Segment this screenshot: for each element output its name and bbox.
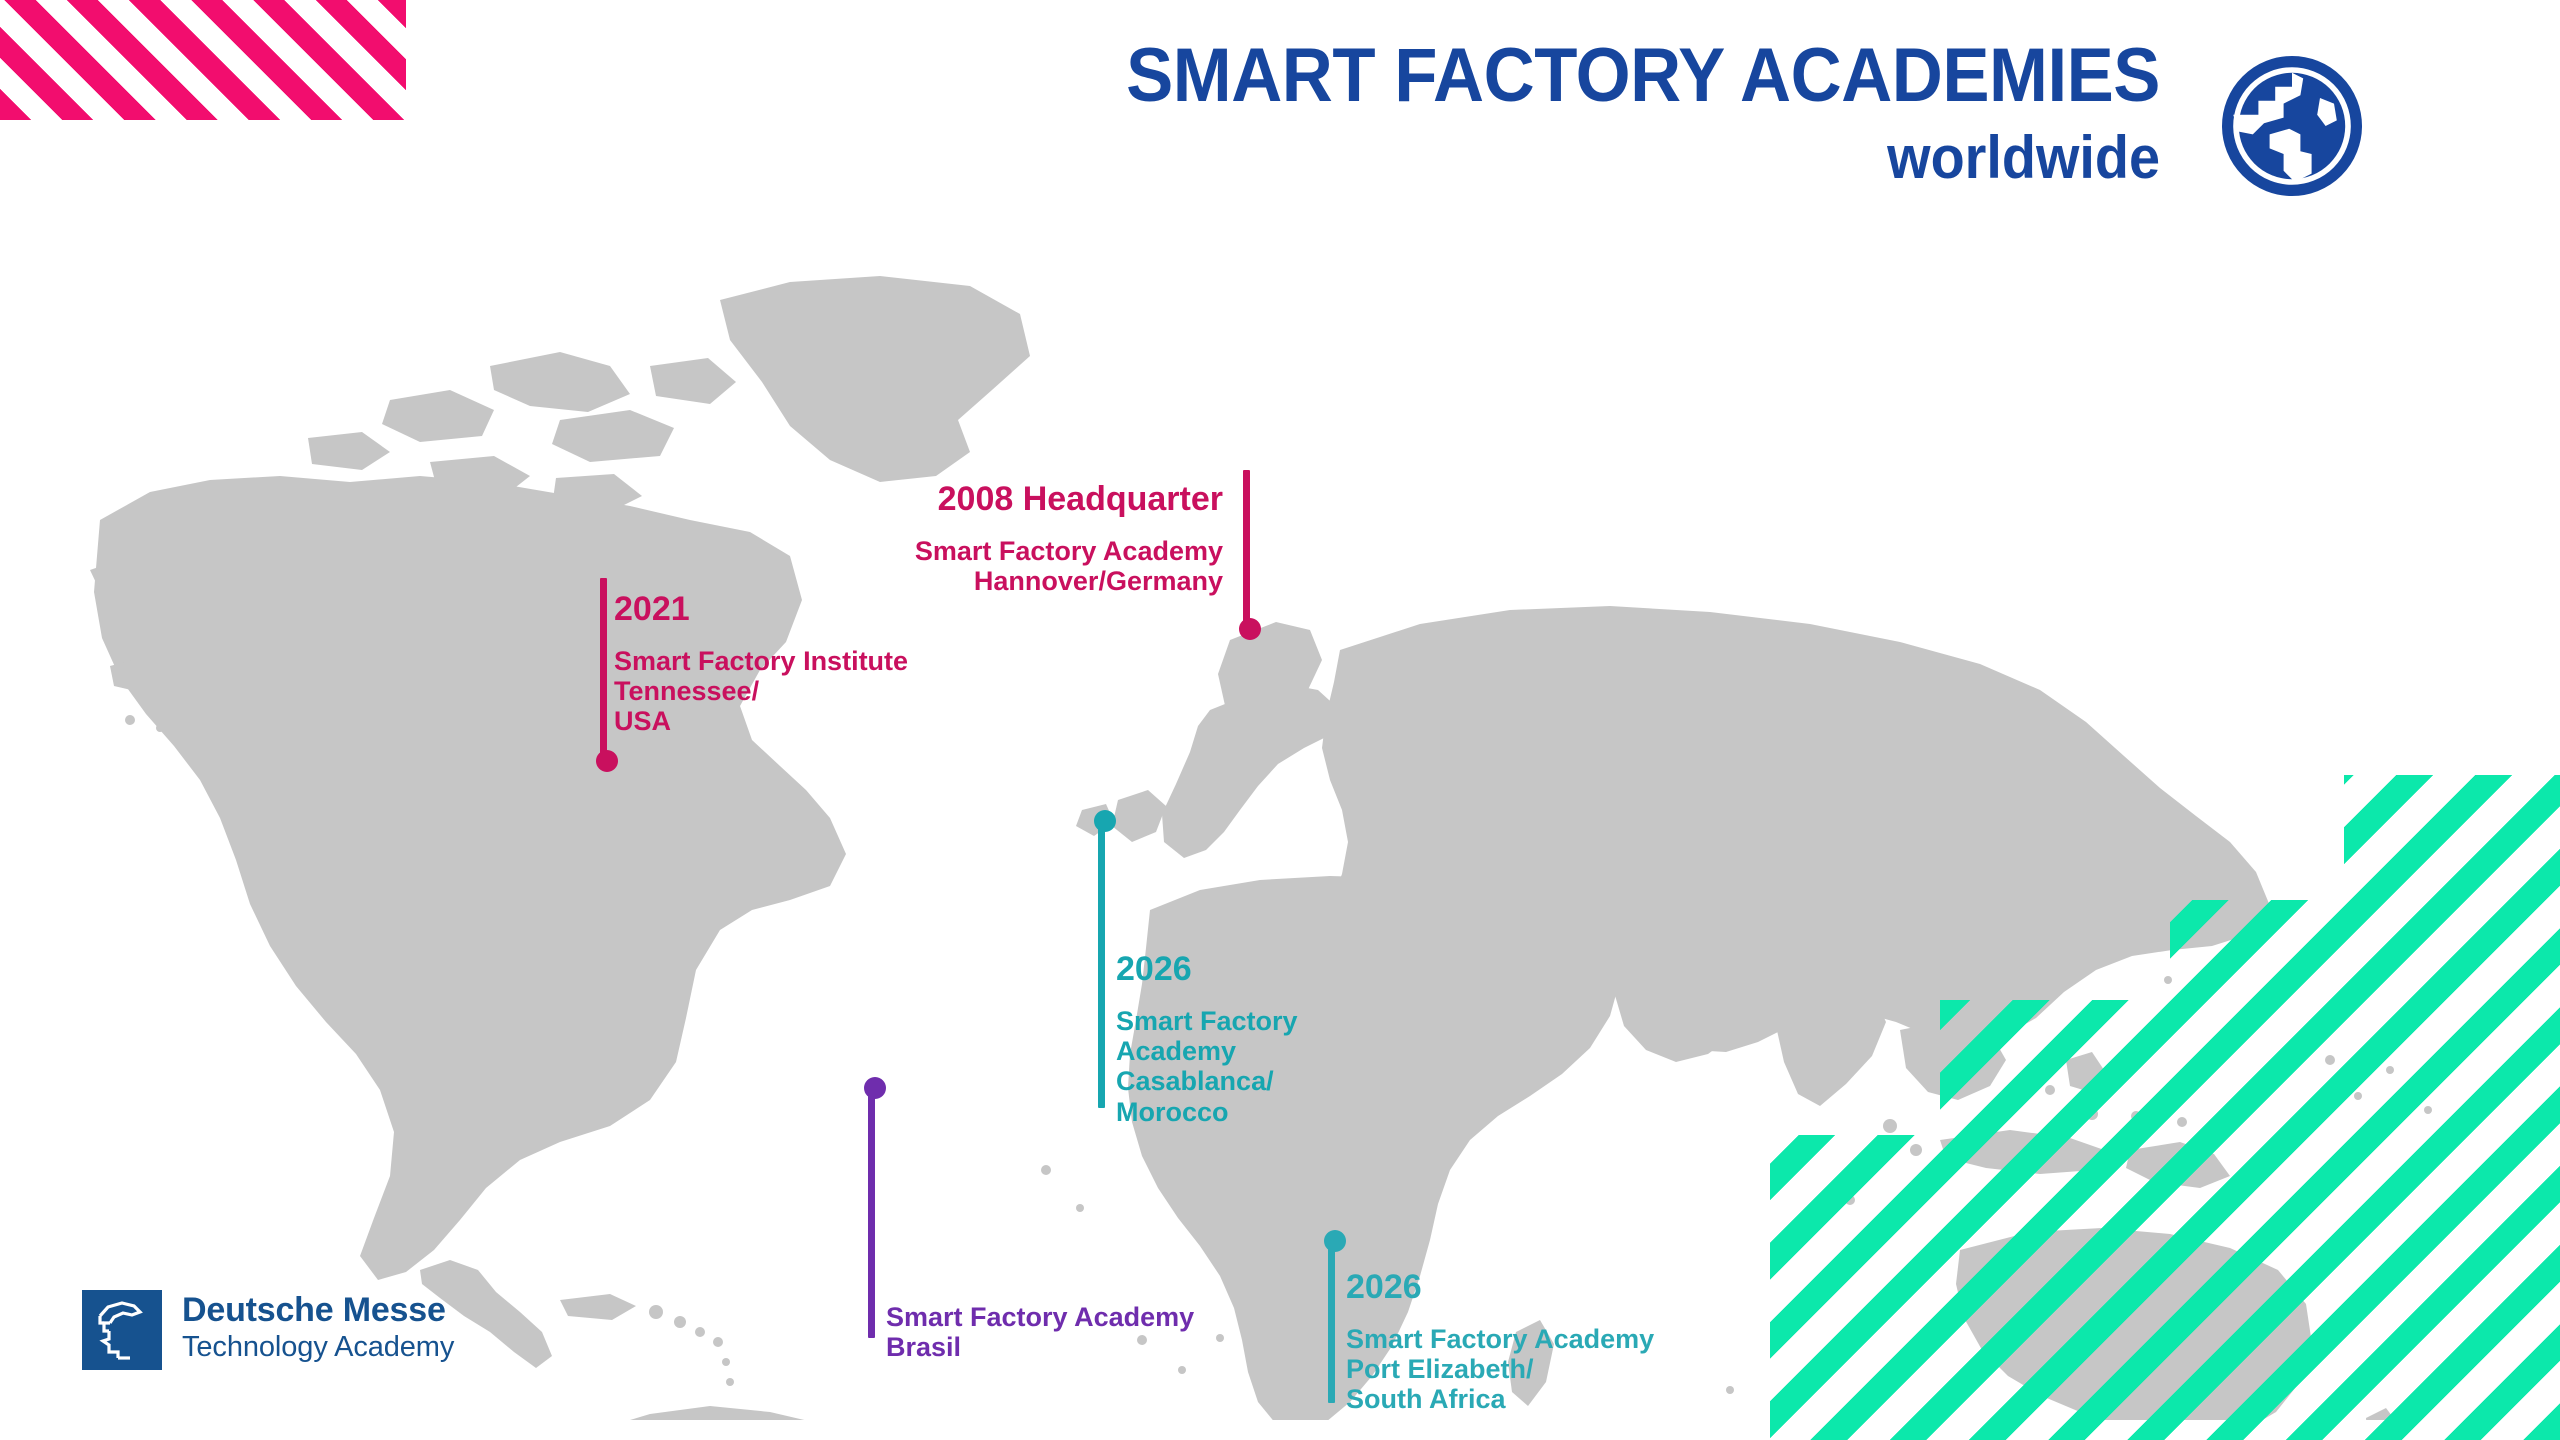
globe-icon [2222, 56, 2362, 196]
marker-stem [1098, 818, 1105, 1108]
marker-dot [1239, 618, 1261, 640]
marker-callout-casablanca: 2026 Smart Factory Academy Casablanca/ M… [1116, 932, 1416, 1145]
marker-year: 2026 [1346, 1268, 1796, 1306]
poster-header: SMART FACTORY ACADEMIES worldwide [0, 0, 2560, 270]
logo-line-1: Deutsche Messe [182, 1292, 454, 1329]
poster-canvas: SMART FACTORY ACADEMIES worldwide 2008 H… [0, 0, 2560, 1440]
marker-body: Smart Factory Academy Port Elizabeth/ So… [1346, 1324, 1796, 1415]
marker-year: 2008 Headquarter [803, 480, 1223, 518]
marker-year: 2021 [614, 590, 1134, 628]
marker-stem [868, 1086, 875, 1338]
logo-text: Deutsche Messe Technology Academy [182, 1292, 454, 1365]
page-title: SMART FACTORY ACADEMIES worldwide [760, 38, 2160, 188]
marker-body: Smart Factory Academy Casablanca/ Morocc… [1116, 1006, 1416, 1127]
logo-line-2: Technology Academy [182, 1331, 454, 1364]
title-line-2: worldwide [858, 128, 2160, 188]
deutsche-messe-logo: Deutsche Messe Technology Academy [82, 1290, 482, 1382]
marker-callout-tennessee: 2021 Smart Factory Institute Tennessee/ … [614, 572, 1134, 755]
marker-stem [600, 578, 607, 756]
world-map [90, 270, 2470, 1420]
marker-body: Smart Factory Academy Brasil [886, 1302, 1326, 1362]
marker-callout-brasil: Smart Factory Academy Brasil [886, 1266, 1326, 1380]
marker-stem [1243, 470, 1250, 625]
marker-body: Smart Factory Institute Tennessee/ USA [614, 646, 1134, 737]
marker-stem [1328, 1238, 1335, 1403]
deutsche-messe-head-mark [82, 1290, 162, 1370]
marker-year: 2026 [1116, 950, 1416, 988]
title-line-1: SMART FACTORY ACADEMIES [858, 38, 2160, 114]
marker-callout-port-elizabeth: 2026 Smart Factory Academy Port Elizabet… [1346, 1250, 1796, 1433]
